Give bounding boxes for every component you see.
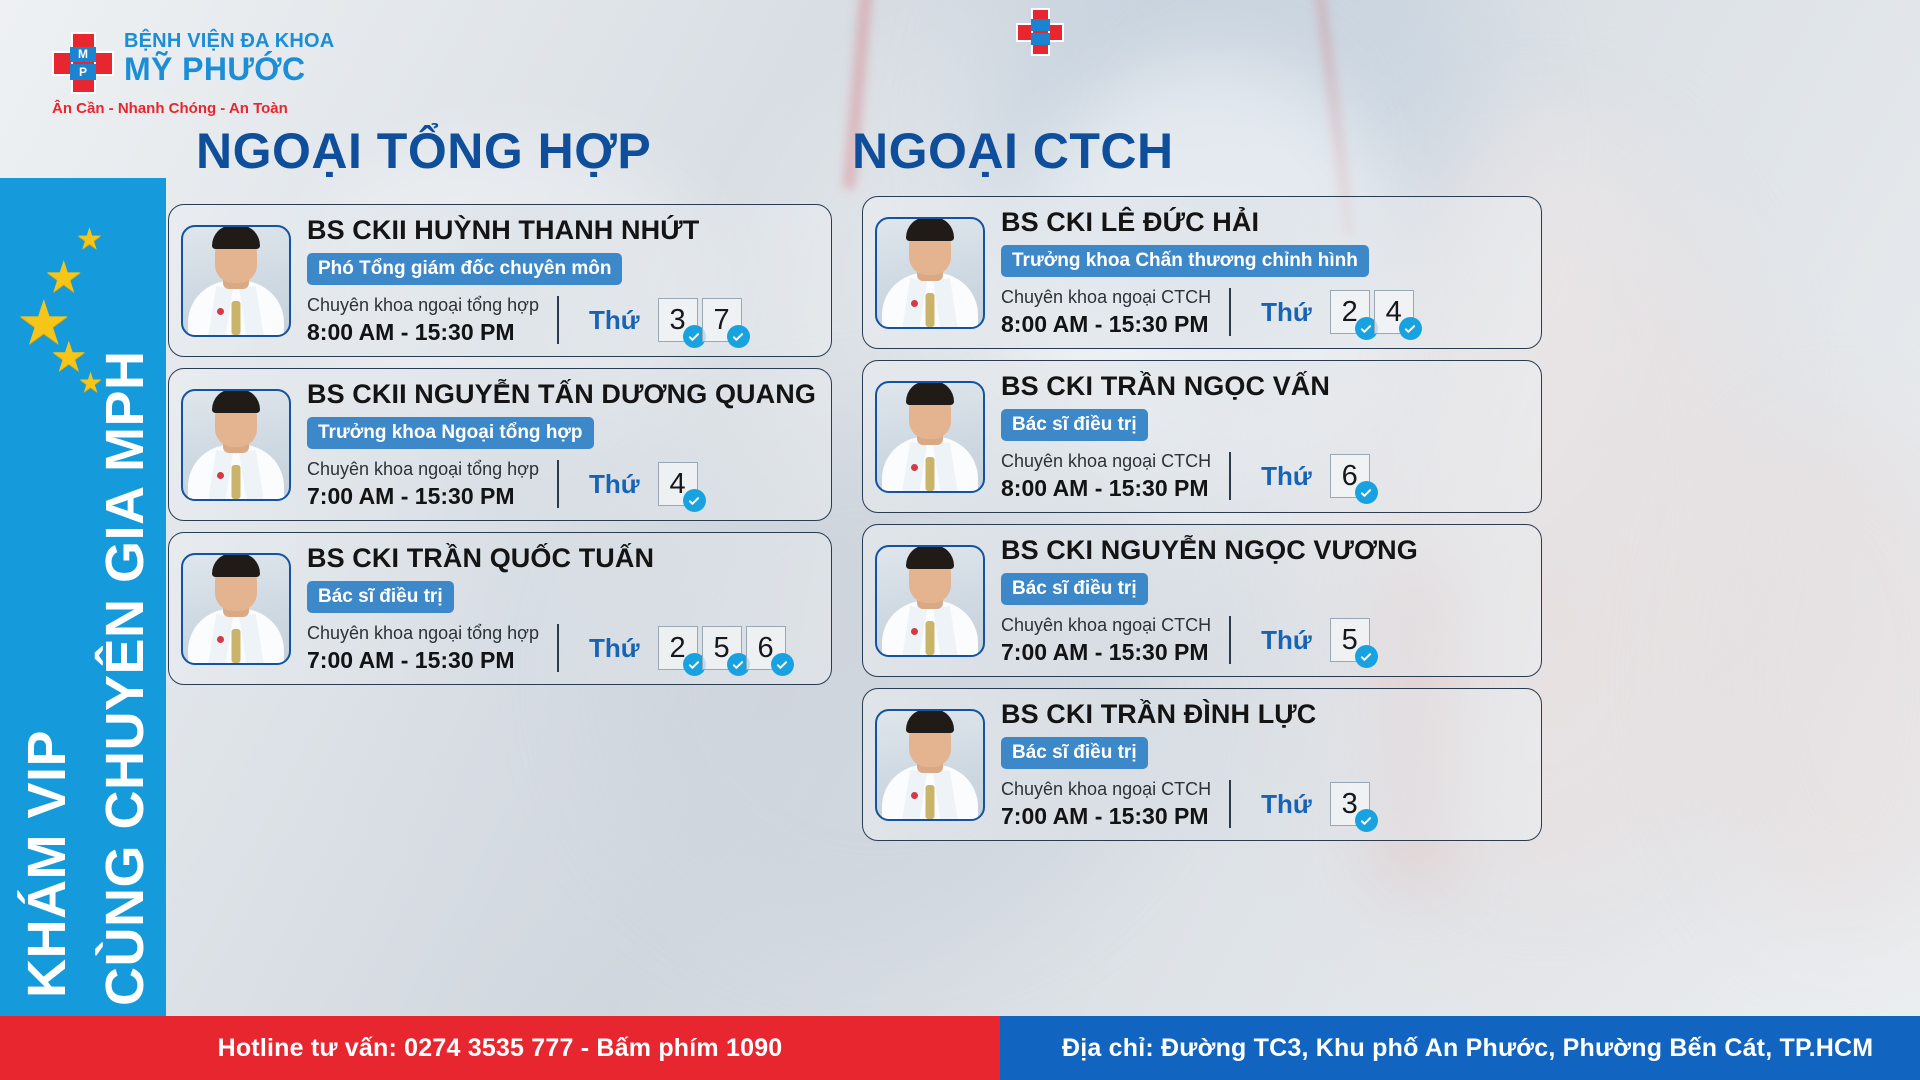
days-label: Thứ <box>589 633 640 663</box>
check-circle-icon <box>1355 481 1378 504</box>
day-badge[interactable]: 4 <box>1374 290 1414 334</box>
doctor-schedule-time: 8:00 AM - 15:30 PM <box>307 319 539 346</box>
day-badge[interactable]: 5 <box>702 626 742 670</box>
day-badge[interactable]: 2 <box>1330 290 1370 334</box>
logo-letter-p: P <box>70 64 96 80</box>
footer-cross-icon <box>1016 8 1064 56</box>
doctor-portrait <box>875 709 985 821</box>
schedule-days: Thứ256 <box>559 626 786 670</box>
vip-side-banner: ★ ★ ★ ★ ★ KHÁM VIP CÙNG CHUYÊN GIA MPH <box>0 178 166 1016</box>
column-heading-ngoai-ctch: NGOẠI CTCH <box>852 124 1174 178</box>
days-label: Thứ <box>1261 625 1312 655</box>
doctor-name: BS CKI TRẦN NGỌC VẤN <box>1001 371 1527 402</box>
doctor-schedule-time: 7:00 AM - 15:30 PM <box>307 647 539 674</box>
banner-text-secondary: CÙNG CHUYÊN GIA MPH <box>96 350 154 1006</box>
day-badge-list: 5 <box>1330 618 1370 662</box>
schedule-days: Thứ37 <box>559 298 742 342</box>
column-heading-ngoai-tong-hop: NGOẠI TỔNG HỢP <box>196 124 651 178</box>
doctor-role-badge: Trưởng khoa Ngoại tổng hợp <box>307 417 594 449</box>
brand-line-2: MỸ PHƯỚC <box>124 52 334 86</box>
check-circle-icon <box>727 325 750 348</box>
doctor-portrait <box>181 389 291 501</box>
doctor-role-badge: Bác sĩ điều trị <box>1001 409 1148 441</box>
schedule-days: Thứ4 <box>559 462 698 506</box>
doctor-role-badge: Bác sĩ điều trị <box>1001 737 1148 769</box>
poster-canvas: M P BỆNH VIỆN ĐA KHOA MỸ PHƯỚC Ân Cần - … <box>0 0 1920 1080</box>
doctor-card[interactable]: BS CKI LÊ ĐỨC HẢITrưởng khoa Chấn thương… <box>862 196 1542 349</box>
logo-letter-m: M <box>70 47 96 62</box>
doctor-specialty: Chuyên khoa ngoại tổng hợp <box>307 294 539 316</box>
day-badge[interactable]: 2 <box>658 626 698 670</box>
schedule-days: Thứ24 <box>1231 290 1414 334</box>
doctor-role-badge: Trưởng khoa Chấn thương chỉnh hình <box>1001 245 1369 277</box>
doctor-card[interactable]: BS CKI TRẦN NGỌC VẤNBác sĩ điều trịChuyê… <box>862 360 1542 513</box>
footer-address: Địa chỉ: Đường TC3, Khu phố An Phước, Ph… <box>1000 1016 1920 1080</box>
day-badge[interactable]: 3 <box>1330 782 1370 826</box>
doctor-portrait <box>181 553 291 665</box>
schedule-days: Thứ3 <box>1231 782 1370 826</box>
doctor-schedule-time: 8:00 AM - 15:30 PM <box>1001 311 1211 338</box>
doctor-card[interactable]: BS CKI NGUYỄN NGỌC VƯƠNGBác sĩ điều trịC… <box>862 524 1542 677</box>
days-label: Thứ <box>1261 789 1312 819</box>
day-badge-list: 256 <box>658 626 786 670</box>
days-label: Thứ <box>589 305 640 335</box>
check-circle-icon <box>1399 317 1422 340</box>
check-circle-icon <box>771 653 794 676</box>
medical-cross-icon: M P <box>52 32 114 94</box>
doctor-name: BS CKI TRẦN ĐÌNH LỰC <box>1001 699 1527 730</box>
doctor-card[interactable]: BS CKI TRẦN QUỐC TUẤNBác sĩ điều trịChuy… <box>168 532 832 685</box>
check-circle-icon <box>1355 645 1378 668</box>
doctor-schedule-time: 8:00 AM - 15:30 PM <box>1001 475 1211 502</box>
day-badge[interactable]: 4 <box>658 462 698 506</box>
doctor-role-badge: Phó Tổng giám đốc chuyên môn <box>307 253 622 285</box>
doctor-name: BS CKII NGUYỄN TẤN DƯƠNG QUANG <box>307 379 817 410</box>
doctor-role-badge: Bác sĩ điều trị <box>307 581 454 613</box>
footer-hotline[interactable]: Hotline tư vấn: 0274 3535 777 - Bấm phím… <box>0 1016 1000 1080</box>
day-badge[interactable]: 7 <box>702 298 742 342</box>
days-label: Thứ <box>1261 297 1312 327</box>
doctor-name: BS CKI LÊ ĐỨC HẢI <box>1001 207 1527 238</box>
doctor-portrait <box>875 545 985 657</box>
doctor-schedule-time: 7:00 AM - 15:30 PM <box>307 483 539 510</box>
doctor-role-badge: Bác sĩ điều trị <box>1001 573 1148 605</box>
doctor-specialty: Chuyên khoa ngoại CTCH <box>1001 286 1211 308</box>
doctor-list-ngoai-tong-hop: BS CKII HUỲNH THANH NHỨTPhó Tổng giám đố… <box>168 204 832 696</box>
check-circle-icon <box>683 489 706 512</box>
doctor-portrait <box>181 225 291 337</box>
doctor-portrait <box>875 217 985 329</box>
doctor-name: BS CKI TRẦN QUỐC TUẤN <box>307 543 817 574</box>
doctor-specialty: Chuyên khoa ngoại CTCH <box>1001 614 1211 636</box>
check-circle-icon <box>1355 809 1378 832</box>
schedule-days: Thứ6 <box>1231 454 1370 498</box>
doctor-schedule-time: 7:00 AM - 15:30 PM <box>1001 803 1211 830</box>
days-label: Thứ <box>1261 461 1312 491</box>
day-badge-list: 37 <box>658 298 742 342</box>
doctor-schedule-time: 7:00 AM - 15:30 PM <box>1001 639 1211 666</box>
day-badge[interactable]: 3 <box>658 298 698 342</box>
doctor-specialty: Chuyên khoa ngoại tổng hợp <box>307 622 539 644</box>
doctor-list-ngoai-ctch: BS CKI LÊ ĐỨC HẢITrưởng khoa Chấn thương… <box>862 196 1542 852</box>
day-badge[interactable]: 6 <box>1330 454 1370 498</box>
day-badge-list: 24 <box>1330 290 1414 334</box>
doctor-name: BS CKI NGUYỄN NGỌC VƯƠNG <box>1001 535 1527 566</box>
doctor-specialty: Chuyên khoa ngoại CTCH <box>1001 778 1211 800</box>
doctor-specialty: Chuyên khoa ngoại CTCH <box>1001 450 1211 472</box>
days-label: Thứ <box>589 469 640 499</box>
day-badge-list: 4 <box>658 462 698 506</box>
day-badge[interactable]: 6 <box>746 626 786 670</box>
day-badge[interactable]: 5 <box>1330 618 1370 662</box>
doctor-card[interactable]: BS CKII HUỲNH THANH NHỨTPhó Tổng giám đố… <box>168 204 832 357</box>
brand-line-1: BỆNH VIỆN ĐA KHOA <box>124 30 334 52</box>
banner-text-primary: KHÁM VIP <box>18 730 76 998</box>
doctor-specialty: Chuyên khoa ngoại tổng hợp <box>307 458 539 480</box>
day-badge-list: 6 <box>1330 454 1370 498</box>
day-badge-list: 3 <box>1330 782 1370 826</box>
doctor-card[interactable]: BS CKI TRẦN ĐÌNH LỰCBác sĩ điều trịChuyê… <box>862 688 1542 841</box>
footer-bar: Hotline tư vấn: 0274 3535 777 - Bấm phím… <box>0 1016 1920 1080</box>
schedule-days: Thứ5 <box>1231 618 1370 662</box>
brand-tagline: Ân Cần - Nhanh Chóng - An Toàn <box>52 100 288 118</box>
doctor-card[interactable]: BS CKII NGUYỄN TẤN DƯƠNG QUANGTrưởng kho… <box>168 368 832 521</box>
doctor-name: BS CKII HUỲNH THANH NHỨT <box>307 215 817 246</box>
doctor-portrait <box>875 381 985 493</box>
